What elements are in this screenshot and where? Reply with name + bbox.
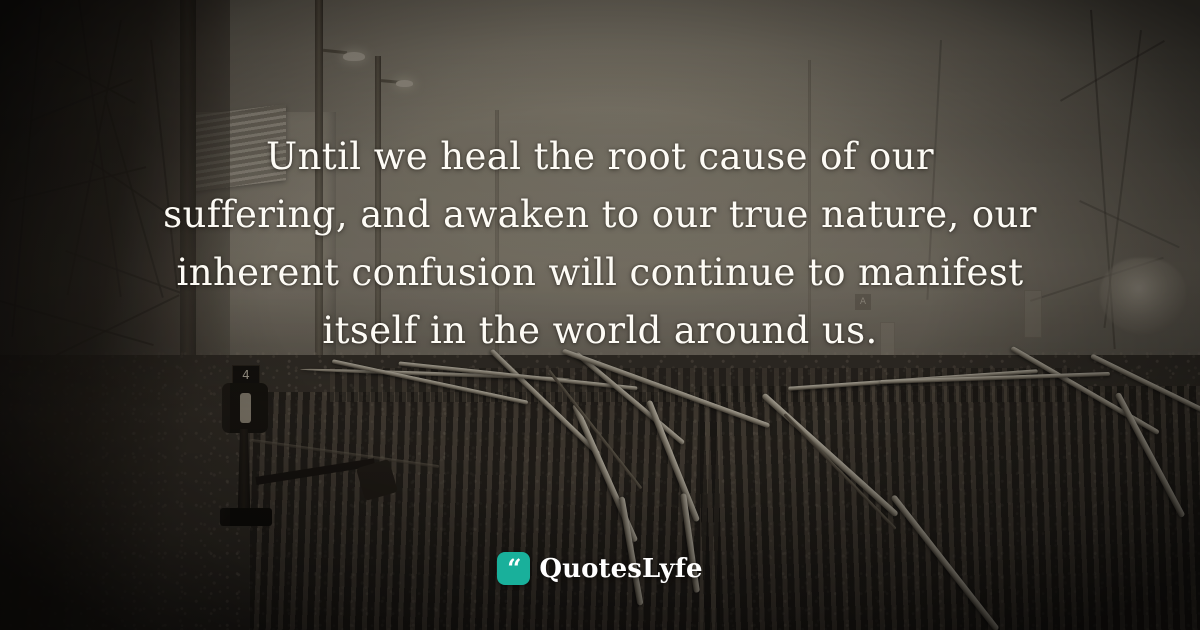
logo-quote-glyph: “ (497, 552, 530, 585)
quote-card: A 4 (0, 0, 1200, 630)
quote-line-1: Until we heal the root cause of our (60, 128, 1140, 186)
quote-line-4: itself in the world around us. (60, 302, 1140, 360)
quote-text-block: Until we heal the root cause of our suff… (0, 128, 1200, 360)
quote-line-3: inherent confusion will continue to mani… (60, 244, 1140, 302)
brand-name-label: QuotesLyfe (539, 554, 702, 584)
quote-line-2: suffering, and awaken to our true nature… (60, 186, 1140, 244)
brand-watermark[interactable]: “ QuotesLyfe (0, 552, 1200, 585)
quote-smiley-icon: “ (497, 552, 530, 585)
